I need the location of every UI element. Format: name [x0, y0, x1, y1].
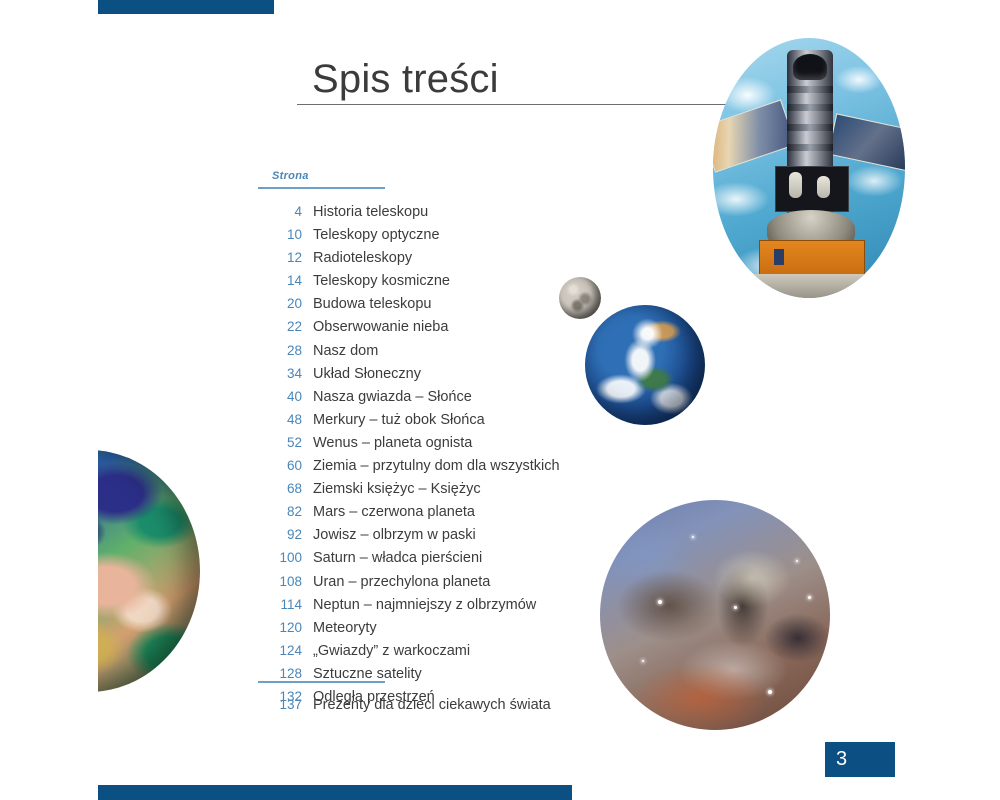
toc-entry-page: 12 — [258, 250, 302, 265]
moon-photo — [559, 277, 601, 319]
venus-radar-map-photo — [98, 450, 200, 692]
toc-entry-page: 68 — [258, 481, 302, 496]
toc-entry-title: Prezenty dla dzieci ciekawych świata — [313, 697, 551, 713]
star-speck — [734, 606, 737, 609]
shuttle-cargo-module — [759, 240, 865, 278]
astronaut-figure — [789, 172, 802, 198]
toc-entry-page: 22 — [258, 319, 302, 334]
toc-entry-page: 120 — [258, 620, 302, 635]
telescope-band — [787, 86, 833, 93]
star-speck — [768, 690, 772, 694]
toc-entry[interactable]: 12Radioteleskopy — [258, 250, 678, 273]
toc-entry[interactable]: 60Ziemia – przytulny dom dla wszystkich — [258, 458, 678, 481]
decorative-bar-bottom — [98, 785, 572, 800]
nebula-photo — [600, 500, 830, 730]
toc-entry[interactable]: 92Jowisz – olbrzym w paski — [258, 527, 678, 550]
toc-entry-page: 82 — [258, 504, 302, 519]
toc-entry-title: Jowisz – olbrzym w paski — [313, 527, 476, 543]
toc-entry-page: 20 — [258, 296, 302, 311]
toc-entry-page: 34 — [258, 366, 302, 381]
toc-entry-title: Uran – przechylona planeta — [313, 574, 490, 590]
telescope-band — [787, 104, 833, 111]
toc-entry[interactable]: 4Historia teleskopu — [258, 204, 678, 227]
telescope-band — [787, 124, 833, 131]
toc-entry-title: Radioteleskopy — [313, 250, 412, 266]
toc-entry-page: 137 — [258, 697, 302, 712]
page-canvas: Spis treści Strona 4Historia teleskopu10… — [0, 0, 1000, 800]
toc-entry-title: Saturn – władca pierścieni — [313, 550, 482, 566]
page-column-header: Strona — [272, 170, 309, 182]
telescope-aperture — [793, 54, 827, 80]
toc-entry-title: „Gwiazdy” z warkoczami — [313, 643, 470, 659]
earth-photo — [585, 305, 705, 425]
star-speck — [692, 536, 694, 538]
toc-entry-title: Mars – czerwona planeta — [313, 504, 475, 520]
toc-entry[interactable]: 137Prezenty dla dzieci ciekawych świata — [258, 697, 678, 719]
toc-entry-title: Merkury – tuż obok Słońca — [313, 412, 485, 428]
toc-entry-title: Nasza gwiazda – Słońce — [313, 389, 472, 405]
toc-entry[interactable]: 10Teleskopy optyczne — [258, 227, 678, 250]
star-speck — [658, 600, 662, 604]
page-title: Spis treści — [312, 55, 499, 103]
toc-entry-title: Ziemia – przytulny dom dla wszystkich — [313, 458, 560, 474]
toc-entry-page: 10 — [258, 227, 302, 242]
toc-entry-page: 60 — [258, 458, 302, 473]
toc-entry-title: Układ Słoneczny — [313, 366, 421, 382]
toc-entry-page: 108 — [258, 574, 302, 589]
toc-entry-title: Sztuczne satelity — [313, 666, 422, 682]
toc-entry-page: 114 — [258, 597, 302, 612]
toc-entry-page: 52 — [258, 435, 302, 450]
toc-entry-title: Wenus – planeta ognista — [313, 435, 472, 451]
toc-entry-title: Meteoryty — [313, 620, 377, 636]
toc-entry-page: 124 — [258, 643, 302, 658]
toc-entry-page: 100 — [258, 550, 302, 565]
telescope-band — [787, 144, 833, 151]
toc-entry-title: Obserwowanie nieba — [313, 319, 448, 335]
toc-entry-page: 128 — [258, 666, 302, 681]
toc-entry-title: Ziemski księżyc – Księżyc — [313, 481, 481, 497]
toc-rule-bottom — [258, 681, 385, 683]
toc-entry[interactable]: 82Mars – czerwona planeta — [258, 504, 678, 527]
venus-sphere — [98, 450, 200, 692]
star-speck — [808, 596, 811, 599]
toc-entry-page: 40 — [258, 389, 302, 404]
shuttle-bay-structure — [753, 274, 877, 298]
toc-entry[interactable]: 52Wenus – planeta ognista — [258, 435, 678, 458]
star-speck — [642, 660, 644, 662]
toc-entry-title: Historia teleskopu — [313, 204, 428, 220]
decorative-bar-top — [98, 0, 274, 14]
toc-entry-page: 28 — [258, 343, 302, 358]
astronaut-figure — [817, 176, 830, 198]
title-underline-rule — [297, 104, 737, 105]
toc-entry-page: 92 — [258, 527, 302, 542]
toc-entry[interactable]: 68Ziemski księżyc – Księżyc — [258, 481, 678, 504]
toc-entry-page: 48 — [258, 412, 302, 427]
telescope-instrument-bay — [775, 166, 849, 212]
toc-entry-title: Teleskopy optyczne — [313, 227, 440, 243]
toc-entry-title: Neptun – najmniejszy z olbrzymów — [313, 597, 536, 613]
toc-entry-title: Teleskopy kosmiczne — [313, 273, 450, 289]
toc-entry-page: 4 — [258, 204, 302, 219]
toc-entry-title: Budowa teleskopu — [313, 296, 432, 312]
toc-entry[interactable]: 14Teleskopy kosmiczne — [258, 273, 678, 296]
page-number-badge: 3 — [825, 742, 895, 777]
toc-entry-title: Nasz dom — [313, 343, 378, 359]
star-speck — [796, 560, 798, 562]
table-of-contents-footer: 137Prezenty dla dzieci ciekawych świata — [258, 697, 678, 719]
toc-rule-top — [258, 187, 385, 189]
hubble-space-telescope-photo — [713, 38, 905, 298]
toc-entry-page: 14 — [258, 273, 302, 288]
